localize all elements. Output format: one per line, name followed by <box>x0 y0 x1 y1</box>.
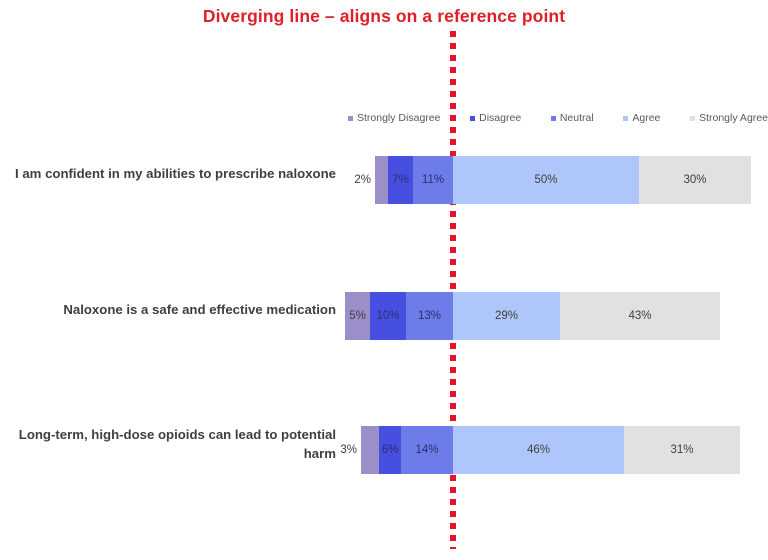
bar-segment-disagree[interactable]: 10% <box>370 292 406 340</box>
bar-segment-value: 46% <box>527 444 550 456</box>
bar-segment-strongly-disagree[interactable]: 5% <box>345 292 370 340</box>
bar-segment-value: 11% <box>422 174 444 186</box>
bar-segment-strongly-disagree[interactable] <box>361 426 379 474</box>
category-label: Naloxone is a safe and effective medicat… <box>6 282 336 338</box>
bar-segment-agree[interactable]: 50% <box>453 156 639 204</box>
stacked-bar: 6%14%46%31% <box>361 426 740 474</box>
bar-segment-value-outside: 2% <box>341 156 371 204</box>
category-label: I am confident in my abilities to prescr… <box>6 146 336 202</box>
bar-segment-agree[interactable]: 29% <box>453 292 560 340</box>
bar-segment-value: 31% <box>670 444 693 456</box>
legend-swatch-icon <box>623 116 628 121</box>
chart-title: Diverging line – aligns on a reference p… <box>0 6 768 27</box>
legend-item-label: Neutral <box>560 112 594 124</box>
diverging-stacked-bar-chart: Diverging line – aligns on a reference p… <box>0 0 768 560</box>
legend-item-label: Disagree <box>479 112 521 124</box>
chart-row: Naloxone is a safe and effective medicat… <box>0 282 768 338</box>
bar-segment-disagree[interactable]: 7% <box>388 156 413 204</box>
category-label-text: I am confident in my abilities to prescr… <box>15 164 336 183</box>
legend-item-agree[interactable]: Agree <box>623 112 660 124</box>
bar-segment-neutral[interactable]: 11% <box>413 156 453 204</box>
legend-item-label: Strongly Disagree <box>357 112 440 124</box>
bar-segment-value: 29% <box>495 310 518 322</box>
bar-segment-value: 6% <box>382 444 399 456</box>
bar-segment-value: 50% <box>534 174 557 186</box>
chart-row: I am confident in my abilities to prescr… <box>0 146 768 202</box>
category-label-text: Naloxone is a safe and effective medicat… <box>63 300 336 319</box>
legend-item-label: Strongly Agree <box>699 112 768 124</box>
legend-item-disagree[interactable]: Disagree <box>470 112 521 124</box>
bar-segment-agree[interactable]: 46% <box>453 426 624 474</box>
chart-legend: Strongly DisagreeDisagreeNeutralAgreeStr… <box>348 110 768 126</box>
bar-segment-value: 5% <box>349 310 366 322</box>
bar-segment-neutral[interactable]: 13% <box>406 292 453 340</box>
legend-swatch-icon <box>348 116 353 121</box>
stacked-bar: 7%11%50%30% <box>375 156 751 204</box>
bar-segment-value: 43% <box>628 310 651 322</box>
bar-segment-value: 14% <box>415 444 438 456</box>
bar-segment-strongly-agree[interactable]: 31% <box>624 426 740 474</box>
legend-item-strongly-disagree[interactable]: Strongly Disagree <box>348 112 440 124</box>
bar-segment-disagree[interactable]: 6% <box>379 426 401 474</box>
bar-segment-strongly-disagree[interactable] <box>375 156 388 204</box>
category-label: Long-term, high-dose opioids can lead to… <box>6 416 336 472</box>
bar-segment-neutral[interactable]: 14% <box>401 426 453 474</box>
category-label-text: Long-term, high-dose opioids can lead to… <box>6 425 336 463</box>
legend-swatch-icon <box>551 116 556 121</box>
chart-row: Long-term, high-dose opioids can lead to… <box>0 416 768 472</box>
legend-swatch-icon <box>690 116 695 121</box>
bar-segment-value-outside: 3% <box>327 426 357 474</box>
legend-item-strongly-agree[interactable]: Strongly Agree <box>690 112 768 124</box>
bar-segment-value: 7% <box>392 174 409 186</box>
bar-segment-value: 13% <box>418 310 441 322</box>
stacked-bar: 5%10%13%29%43% <box>345 292 720 340</box>
legend-item-label: Agree <box>632 112 660 124</box>
bar-segment-strongly-agree[interactable]: 43% <box>560 292 720 340</box>
legend-swatch-icon <box>470 116 475 121</box>
bar-segment-strongly-agree[interactable]: 30% <box>639 156 751 204</box>
bar-segment-value: 30% <box>683 174 706 186</box>
legend-item-neutral[interactable]: Neutral <box>551 112 594 124</box>
bar-segment-value: 10% <box>376 310 399 322</box>
